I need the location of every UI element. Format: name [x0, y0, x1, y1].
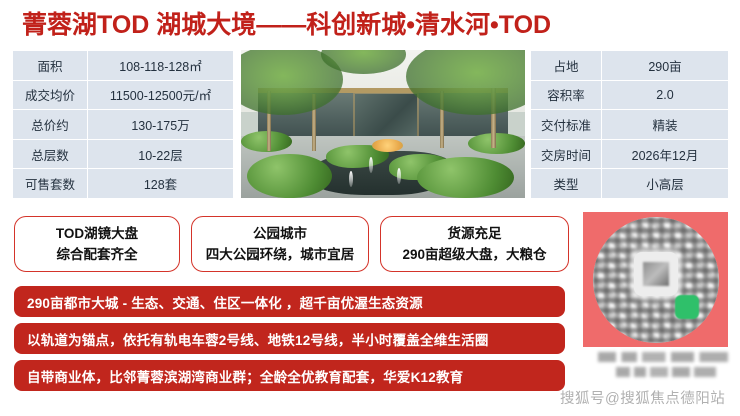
table-row: 占地 290亩	[531, 51, 728, 80]
page-title: 菁蓉湖TOD 湖城大境——科创新城•清水河•TOD	[22, 9, 722, 41]
photo-shrub	[247, 154, 332, 198]
photo-flower-bed	[372, 139, 403, 152]
table-row: 交付标准 精装	[531, 110, 728, 139]
spec-value: 130-175万	[88, 110, 233, 139]
feature-box-park-city: 公园城市 四大公园环绕，城市宜居	[191, 216, 369, 272]
spec-key: 总价约	[13, 110, 87, 139]
feature-box-supply: 货源充足 290亩超级大盘，大粮仓	[380, 216, 569, 272]
spec-key: 面积	[13, 51, 87, 80]
table-row: 类型 小高层	[531, 169, 728, 198]
feature-box-subtitle: 290亩超级大盘，大粮仓	[402, 244, 546, 265]
spec-value: 11500-12500元/㎡	[88, 81, 233, 110]
spec-value: 10-22层	[88, 140, 233, 169]
qr-center-logo-inner	[643, 262, 669, 286]
watermark-sohu: 搜狐号@搜狐焦点德阳站	[560, 387, 738, 408]
spec-key: 交房时间	[531, 140, 601, 169]
spec-key: 容积率	[531, 81, 601, 110]
qr-caption-line-1	[598, 352, 728, 362]
spec-value: 2026年12月	[602, 140, 728, 169]
spec-value: 小高层	[602, 169, 728, 198]
spec-table-right: 占地 290亩 容积率 2.0 交付标准 精装 交房时间 2026年12月 类型…	[530, 50, 729, 199]
table-row: 总价约 130-175万	[13, 110, 233, 139]
table-row: 面积 108-118-128㎡	[13, 51, 233, 80]
feature-box-subtitle: 综合配套齐全	[57, 244, 138, 265]
table-row: 交房时间 2026年12月	[531, 140, 728, 169]
qr-code-icon[interactable]	[593, 217, 719, 343]
spec-value: 精装	[602, 110, 728, 139]
spec-table-left: 面积 108-118-128㎡ 成交均价 11500-12500元/㎡ 总价约 …	[12, 50, 234, 199]
spec-value: 128套	[88, 169, 233, 198]
spec-value: 108-118-128㎡	[88, 51, 233, 80]
spec-key: 成交均价	[13, 81, 87, 110]
photo-fountain-jet	[349, 171, 353, 187]
project-photo	[241, 50, 525, 198]
table-row: 成交均价 11500-12500元/㎡	[13, 81, 233, 110]
qr-caption-line-2	[616, 367, 716, 377]
table-row: 总层数 10-22层	[13, 140, 233, 169]
feature-box-title: 公园城市	[253, 224, 307, 244]
spec-value: 290亩	[602, 51, 728, 80]
table-row: 容积率 2.0	[531, 81, 728, 110]
feature-box-title: TOD湖镜大盘	[56, 224, 138, 244]
photo-glass-facade	[355, 94, 417, 135]
qr-green-marker	[675, 295, 699, 319]
spec-key: 类型	[531, 169, 601, 198]
table-row: 可售套数 128套	[13, 169, 233, 198]
spec-key: 交付标准	[531, 110, 601, 139]
feature-box-subtitle: 四大公园环绕，城市宜居	[206, 244, 355, 265]
feature-box-tod: TOD湖镜大盘 综合配套齐全	[14, 216, 180, 272]
photo-shrub	[468, 133, 525, 154]
spec-key: 可售套数	[13, 169, 87, 198]
spec-key: 占地	[531, 51, 601, 80]
spec-value: 2.0	[602, 81, 728, 110]
poster-root: 菁蓉湖TOD 湖城大境——科创新城•清水河•TOD 面积 108-118-128…	[0, 0, 740, 416]
highlight-banner-transit: 以轨道为锚点，依托有轨电车蓉2号线、地铁12号线，半小时覆盖全维生活圈	[14, 323, 565, 354]
highlight-banner-commerce: 自带商业体，比邻菁蓉滨湖湾商业群；全龄全优教育配套，华爱K12教育	[14, 360, 565, 391]
spec-key: 总层数	[13, 140, 87, 169]
highlight-banner-ecology: 290亩都市大城 - 生态、交通、住区一体化 ，超千亩优渥生态资源	[14, 286, 565, 317]
qr-code-card[interactable]	[583, 212, 728, 347]
feature-box-title: 货源充足	[448, 224, 502, 244]
photo-shrub	[417, 157, 514, 198]
photo-fountain-jet	[369, 157, 373, 173]
qr-center-logo	[634, 252, 678, 296]
